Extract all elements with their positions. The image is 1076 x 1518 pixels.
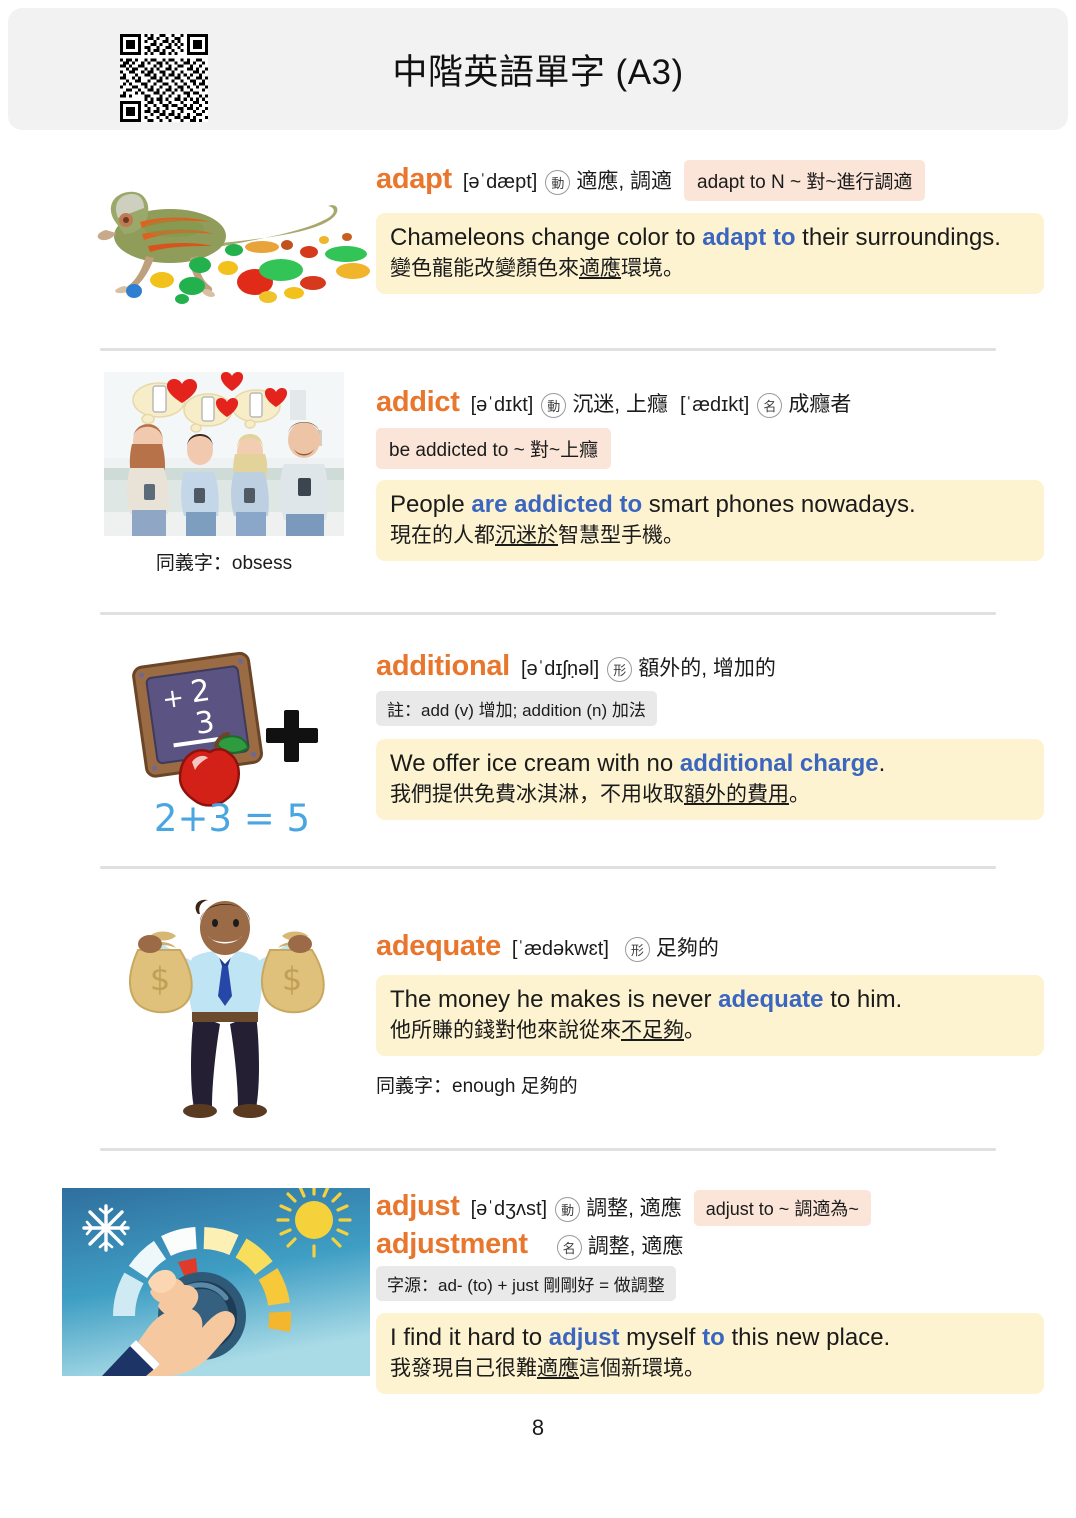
pronunciation-noun: [ˈædɪkt] <box>680 394 749 417</box>
example-sentence-zh: 他所賺的錢對他來說從來不足夠。 <box>390 1017 1030 1044</box>
pos-marker: 動 <box>555 1197 580 1222</box>
note-tag: 註：add (v) 增加; addition (n) 加法 <box>376 691 657 726</box>
pronunciation: [əˈdʒʌst] <box>471 1198 547 1221</box>
example-sentence-en: People are addicted to smart phones nowa… <box>390 490 1030 519</box>
phrase-tag: be addicted to ~ 對~上癮 <box>376 428 611 469</box>
meaning: 沉迷, 上癮 <box>572 388 668 418</box>
entry-image-blackboard-apple: 2 3 + 2+3 = 5 <box>118 646 346 836</box>
page-title: 中階英語單字 (A3) <box>8 8 1068 130</box>
entry-divider <box>100 612 996 615</box>
image-caption-synonym: 同義字：obsess <box>104 548 344 575</box>
synonym-line: 同義字：enough 足夠的 <box>376 1071 1044 1098</box>
example-box: Chameleons change color to adapt to thei… <box>376 213 1044 294</box>
pos-marker: 形 <box>607 657 632 682</box>
headword[interactable]: adjust <box>376 1190 460 1223</box>
phrase-tag: adjust to ~ 調適為~ <box>694 1190 871 1226</box>
entry-divider <box>100 1148 996 1151</box>
meaning-noun: 調整, 適應 <box>588 1230 684 1260</box>
entry-divider <box>100 348 996 351</box>
meaning-noun: 成癮者 <box>788 388 851 418</box>
headline: additional [əˈdɪʃṇəl] 形 額外的, 增加的 <box>376 650 1044 683</box>
example-sentence-en: The money he makes is never adequate to … <box>390 985 1030 1014</box>
example-box: We offer ice cream with no additional ch… <box>376 739 1044 820</box>
example-sentence-zh: 我發現自己很難適應這個新環境。 <box>390 1355 1030 1382</box>
example-sentence-en: Chameleons change color to adapt to thei… <box>390 223 1030 252</box>
pos-marker: 動 <box>541 393 566 418</box>
entry-image-temperature-dial <box>62 1188 370 1376</box>
pronunciation: [əˈdɪʃṇəl] <box>521 658 599 681</box>
headword[interactable]: adapt <box>376 163 452 196</box>
pronunciation: [əˈdɪkt] <box>471 394 534 417</box>
example-sentence-zh: 現在的人都沉迷於智慧型手機。 <box>390 522 1030 549</box>
page-number: 8 <box>0 1415 1076 1441</box>
example-box: People are addicted to smart phones nowa… <box>376 480 1044 561</box>
phrase-tag: adapt to N ~ 對~進行調適 <box>684 160 925 201</box>
headline: adequate [ˈædəkwɛt] 形 足夠的 <box>376 930 1044 963</box>
meaning: 足夠的 <box>656 932 719 962</box>
entry-image-chameleon <box>62 158 370 310</box>
entry-divider <box>100 866 996 869</box>
headword[interactable]: addict <box>376 386 460 419</box>
example-box: I find it hard to adjust myself to this … <box>376 1313 1044 1394</box>
example-box: The money he makes is never adequate to … <box>376 975 1044 1056</box>
meaning: 適應, 調適 <box>576 165 672 195</box>
svg-text:$: $ <box>282 960 302 998</box>
example-sentence-zh: 變色龍能改變顏色來適應環境。 <box>390 255 1030 282</box>
svg-text:$: $ <box>150 960 170 998</box>
example-sentence-en: We offer ice cream with no additional ch… <box>390 749 1030 778</box>
headline: addict [əˈdɪkt] 動 沉迷, 上癮 [ˈædɪkt] 名 成癮者 <box>376 386 1044 419</box>
page-header: 中階英語單字 (A3) <box>8 8 1068 130</box>
pos-marker-noun: 名 <box>557 1235 582 1260</box>
entry-image-family-phones <box>104 372 344 536</box>
pronunciation: [əˈdæpt] <box>463 171 537 194</box>
pos-marker: 動 <box>545 170 570 195</box>
meaning: 額外的, 增加的 <box>638 652 776 682</box>
headline: adapt [əˈdæpt] 動 適應, 調適 adapt to N ~ 對~進… <box>376 160 1044 201</box>
etymology-tag: 字源：ad- (to) + just 剛剛好 = 做調整 <box>376 1266 676 1301</box>
headword[interactable]: additional <box>376 650 510 683</box>
pos-marker-noun: 名 <box>757 393 782 418</box>
example-sentence-en: I find it hard to adjust myself to this … <box>390 1323 1030 1352</box>
headword-derived[interactable]: adjustment <box>376 1228 528 1261</box>
headline: adjust [əˈdʒʌst] 動 調整, 適應 adjust to ~ 調適… <box>376 1190 1044 1226</box>
headline-derived: adjustment 名 調整, 適應 <box>376 1228 1044 1261</box>
entry-image-man-money-bags: $ $ <box>120 892 330 1120</box>
svg-text:2+3 = 5: 2+3 = 5 <box>154 797 310 836</box>
example-sentence-zh: 我們提供免費冰淇淋，不用收取額外的費用。 <box>390 781 1030 808</box>
headword[interactable]: adequate <box>376 930 501 963</box>
pos-marker: 形 <box>625 937 650 962</box>
meaning: 調整, 適應 <box>586 1192 682 1222</box>
svg-text:+: + <box>160 683 186 716</box>
pronunciation: [ˈædəkwɛt] <box>512 938 609 961</box>
